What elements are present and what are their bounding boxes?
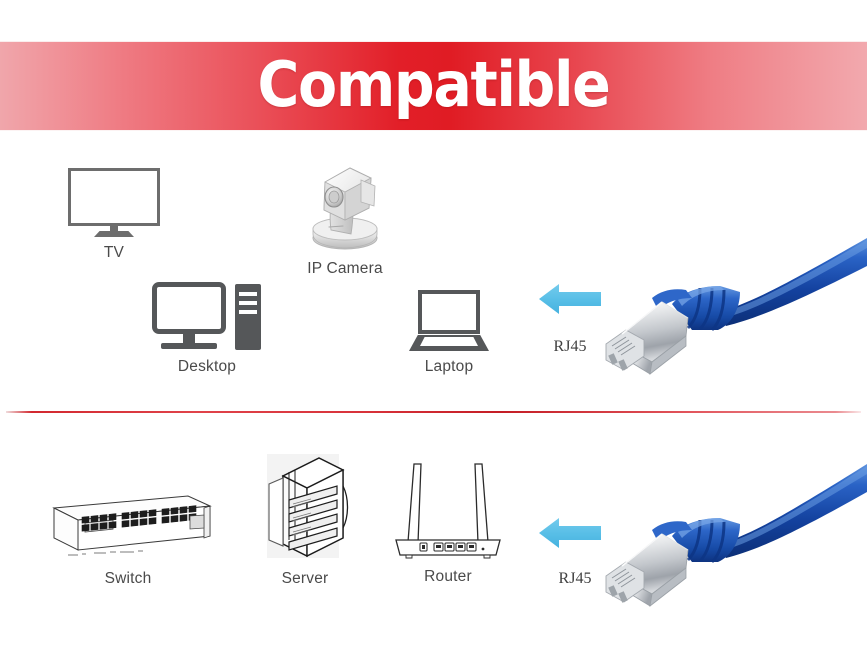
device-label-router: Router [390, 568, 506, 586]
laptop-keyboard-shape [420, 337, 478, 346]
device-label-tv: TV [64, 244, 164, 262]
rj45-label-top: RJ45 [540, 338, 600, 356]
server-rack-glyph [259, 452, 351, 564]
rj45-label-bottom-wrap: RJ45 [545, 570, 605, 588]
laptop-icon [409, 290, 489, 352]
device-label-ip-camera: IP Camera [295, 260, 395, 278]
page-title: Compatible [35, 42, 833, 130]
ip-camera-glyph [295, 156, 395, 254]
arrow-left-icon-top [538, 281, 602, 317]
device-ip-camera: IP Camera [295, 156, 395, 278]
tv-screen-shape [68, 168, 160, 226]
desktop-tower-bay [239, 301, 257, 305]
arrow-left-glyph-bottom [538, 515, 602, 551]
desktop-monitor-base [161, 343, 217, 349]
laptop-screen-shape [418, 290, 480, 334]
ethernet-cable-glyph-top [600, 236, 867, 384]
ethernet-patch-cable-top [600, 236, 867, 384]
device-label-desktop: Desktop [151, 358, 263, 376]
device-tv: TV [64, 168, 164, 262]
section-divider [6, 411, 861, 413]
wifi-router-glyph [390, 456, 506, 562]
desktop-tower-bay [239, 310, 257, 314]
device-label-server: Server [259, 570, 351, 588]
ip-camera-icon [295, 156, 395, 254]
device-desktop: Desktop [151, 282, 263, 376]
server-rack-icon [259, 452, 351, 564]
desktop-computer-icon [152, 282, 262, 352]
desktop-tower-shape [235, 284, 261, 350]
arrow-left-glyph [538, 281, 602, 317]
device-server: Server [259, 452, 351, 588]
rj45-label-top-wrap: RJ45 [540, 338, 600, 356]
device-label-laptop: Laptop [409, 358, 489, 376]
network-switch-glyph [38, 486, 218, 564]
arrow-left-icon-bottom [538, 515, 602, 551]
device-router: Router [390, 456, 506, 586]
network-switch-icon [38, 486, 218, 564]
device-label-switch: Switch [38, 570, 218, 588]
wifi-router-icon [390, 456, 506, 562]
device-switch: Switch [38, 486, 218, 588]
tv-base-shape [94, 231, 134, 237]
desktop-monitor-shape [152, 282, 226, 334]
device-laptop: Laptop [409, 290, 489, 376]
desktop-tower-bay [239, 292, 257, 296]
header-banner: Compatible [0, 42, 867, 130]
rj45-label-bottom: RJ45 [545, 570, 605, 588]
ethernet-patch-cable-bottom [600, 458, 867, 618]
tv-icon [68, 168, 160, 238]
ethernet-cable-glyph-bottom [600, 458, 867, 618]
